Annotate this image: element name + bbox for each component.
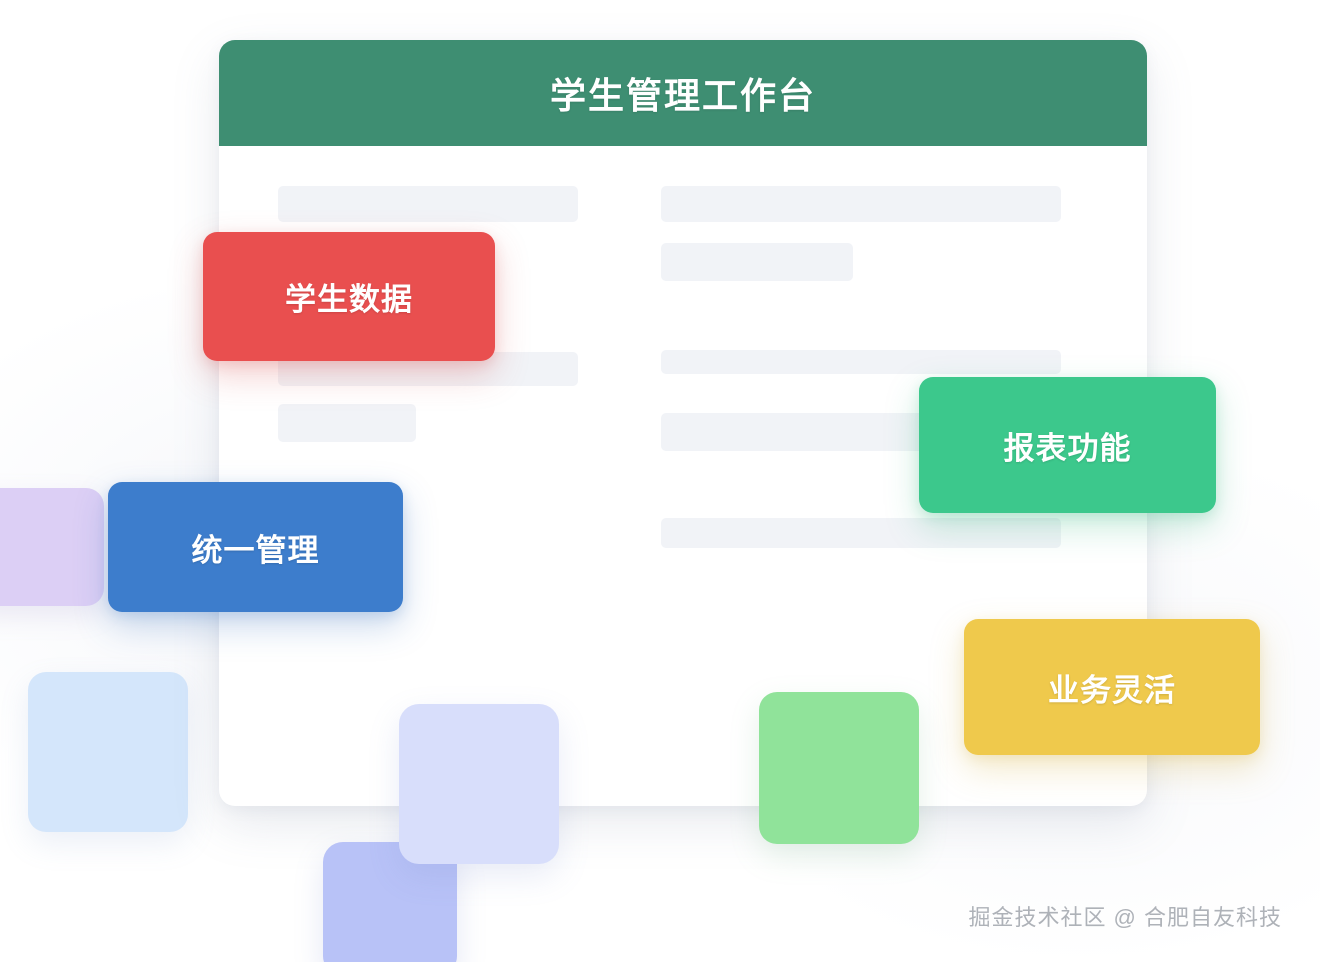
square-purple-icon [0, 488, 104, 606]
chip-report-feature[interactable]: 报表功能 [919, 377, 1216, 513]
skeleton-bar [661, 186, 1061, 222]
chip-student-data[interactable]: 学生数据 [203, 232, 495, 361]
chip-business-flexible[interactable]: 业务灵活 [964, 619, 1260, 755]
skeleton-bar [278, 186, 578, 222]
page-title: 学生管理工作台 [550, 67, 816, 119]
skeleton-bar [278, 404, 416, 442]
skeleton-bar [661, 518, 1061, 548]
square-periwinkle-front-icon [399, 704, 559, 864]
window-header: 学生管理工作台 [219, 40, 1147, 146]
chip-unified-management[interactable]: 统一管理 [108, 482, 403, 612]
square-light-blue-icon [28, 672, 188, 832]
square-green-icon [759, 692, 919, 844]
skeleton-bar [661, 350, 1061, 374]
screenshot-stage: 学生管理工作台 学生数据 统一管理 报表功能 业务灵活 掘金技术社区 @ 合肥自… [0, 0, 1320, 962]
skeleton-bar [661, 243, 853, 281]
watermark: 掘金技术社区 @ 合肥自友科技 [968, 900, 1282, 932]
